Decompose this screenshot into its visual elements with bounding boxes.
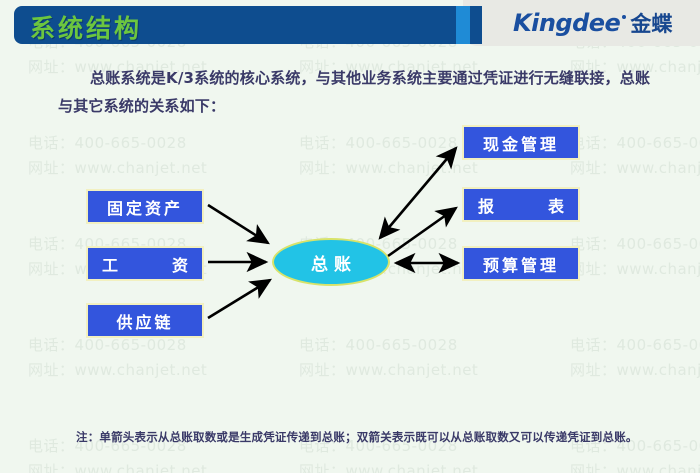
slide-canvas: 电话：400-665-0028网址：www.chanjet.net电话：400-… [0,0,700,473]
node-supply-chain-label: 供应链 [116,309,173,333]
page-title: 系统结构 [30,9,142,45]
node-supply-chain[interactable]: 供应链 [86,303,204,338]
slide-header: 系统结构 Kingdee 金蝶 [0,0,700,46]
node-cash-management-label: 现金管理 [483,131,559,155]
node-payroll-label-b: 资 [172,252,188,276]
arrow-fixed-assets-to-gl [208,205,268,243]
node-payroll[interactable]: 工 资 [86,246,204,281]
system-structure-diagram: 固定资产 工 资 供应链 现金管理 报 表 预算管理 总账 [0,0,700,473]
arrow-supply-chain-to-gl [208,280,270,318]
node-fixed-assets-label: 固定资产 [107,195,183,219]
arrow-layer [0,0,700,473]
brand-dot-icon [622,15,626,19]
footer-note: 注：单箭头表示从总账取数或是生成凭证传递到总账；双箭关表示既可以从总账取数又可以… [76,428,656,447]
node-general-ledger-label: 总账 [305,250,357,275]
node-general-ledger[interactable]: 总账 [272,238,390,286]
node-budget-management[interactable]: 预算管理 [462,246,580,281]
node-report[interactable]: 报 表 [462,187,580,222]
arrow-gl-cash-double [380,148,456,238]
kingdee-logo: Kingdee 金蝶 [513,8,672,38]
node-budget-management-label: 预算管理 [483,252,559,276]
node-fixed-assets[interactable]: 固定资产 [86,189,204,224]
brand-cn-text: 金蝶 [630,8,672,38]
brand-latin-text: Kingdee [513,9,620,37]
title-bar-accent [456,6,470,44]
node-cash-management[interactable]: 现金管理 [462,125,580,160]
node-report-label-a: 报 [478,193,494,217]
node-payroll-label-a: 工 [102,252,118,276]
node-report-label-b: 表 [548,193,564,217]
